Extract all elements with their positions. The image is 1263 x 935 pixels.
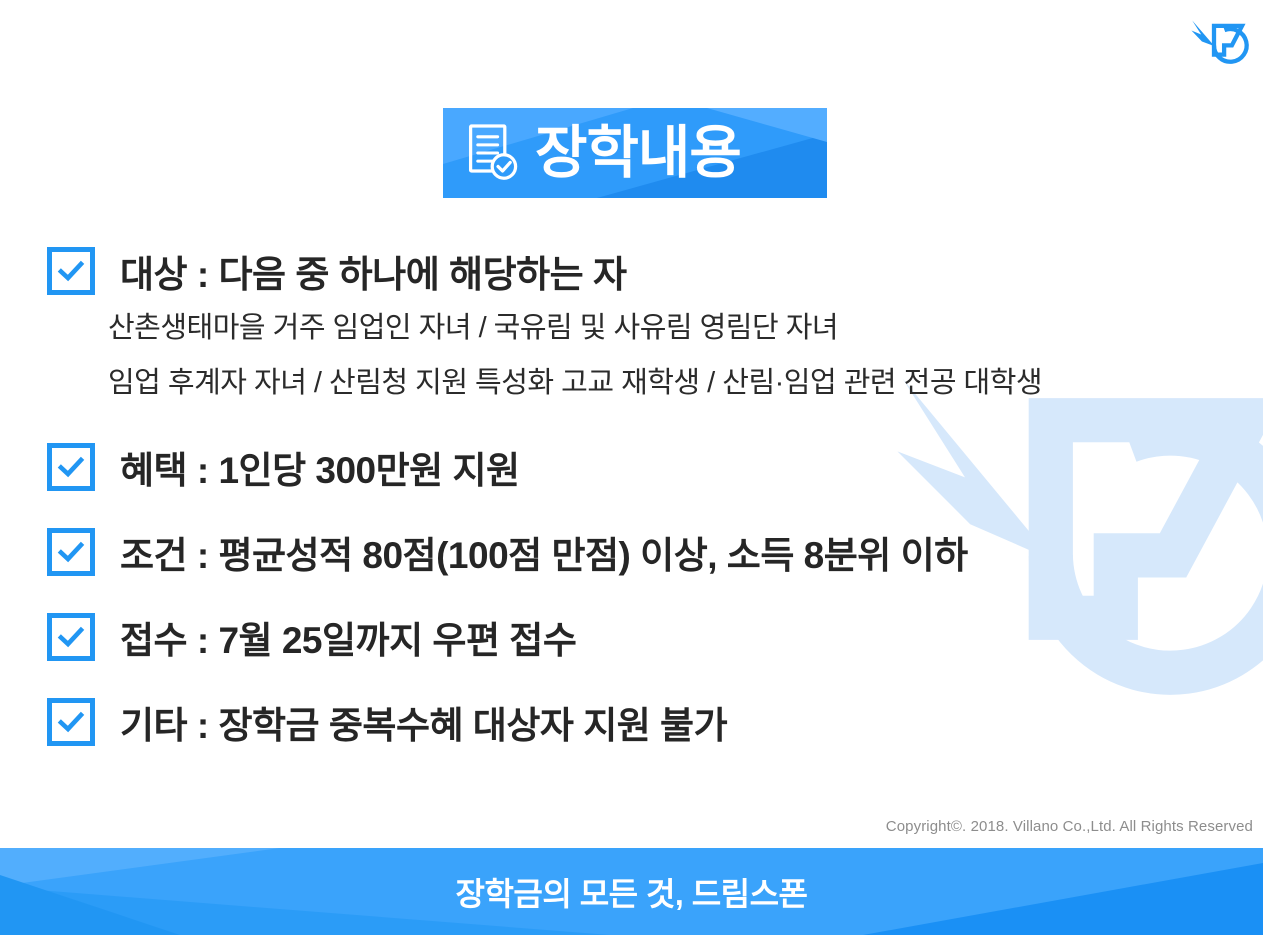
list-item-label: 조건 : 평균성적 80점(100점 만점) 이상, 소득 8분위 이하 xyxy=(120,525,968,579)
list-item: 조건 : 평균성적 80점(100점 만점) 이상, 소득 8분위 이하 xyxy=(0,521,1263,583)
slide-page: 장학내용 대상 : 다음 중 하나에 해당하는 자 산촌생태마을 거주 임업인 … xyxy=(0,0,1263,935)
spacer xyxy=(0,583,1263,606)
list-item-label: 대상 : 다음 중 하나에 해당하는 자 xyxy=(120,244,627,298)
checkbox-checked-icon[interactable] xyxy=(47,247,95,295)
title-banner: 장학내용 xyxy=(443,108,827,198)
spacer xyxy=(0,668,1263,691)
list-item-subline: 임업 후계자 자녀 / 산림청 지원 특성화 고교 재학생 / 산림·임업 관련… xyxy=(108,369,1263,398)
list-item: 접수 : 7월 25일까지 우편 접수 xyxy=(0,606,1263,668)
list-item: 혜택 : 1인당 300만원 지원 xyxy=(0,436,1263,498)
footer-bar: 장학금의 모든 것, 드림스폰 xyxy=(0,848,1263,935)
checkbox-checked-icon[interactable] xyxy=(47,613,95,661)
spacer xyxy=(0,498,1263,521)
checkbox-checked-icon[interactable] xyxy=(47,443,95,491)
page-title: 장학내용 xyxy=(535,125,741,182)
list-item-label: 혜택 : 1인당 300만원 지원 xyxy=(120,440,520,494)
list-item-label: 기타 : 장학금 중복수혜 대상자 지원 불가 xyxy=(120,695,727,749)
footer-slogan: 장학금의 모든 것, 드림스폰 xyxy=(0,848,1263,935)
document-check-icon xyxy=(467,123,521,183)
list-item-subline: 산촌생태마을 거주 임업인 자녀 / 국유림 및 사유림 영림단 자녀 xyxy=(108,314,1263,343)
checkbox-checked-icon[interactable] xyxy=(47,528,95,576)
list-item-label: 접수 : 7월 25일까지 우편 접수 xyxy=(120,610,576,664)
scholarship-details-list: 대상 : 다음 중 하나에 해당하는 자 산촌생태마을 거주 임업인 자녀 / … xyxy=(0,240,1263,753)
list-item: 대상 : 다음 중 하나에 해당하는 자 xyxy=(0,240,1263,302)
spacer xyxy=(0,398,1263,436)
list-item: 기타 : 장학금 중복수혜 대상자 지원 불가 xyxy=(0,691,1263,753)
list-item-sublines: 산촌생태마을 거주 임업인 자녀 / 국유림 및 사유림 영림단 자녀 임업 후… xyxy=(0,302,1263,398)
villano-bird-logo-icon xyxy=(1175,8,1253,78)
checkbox-checked-icon[interactable] xyxy=(47,698,95,746)
copyright-text: Copyright©. 2018. Villano Co.,Ltd. All R… xyxy=(886,818,1253,835)
